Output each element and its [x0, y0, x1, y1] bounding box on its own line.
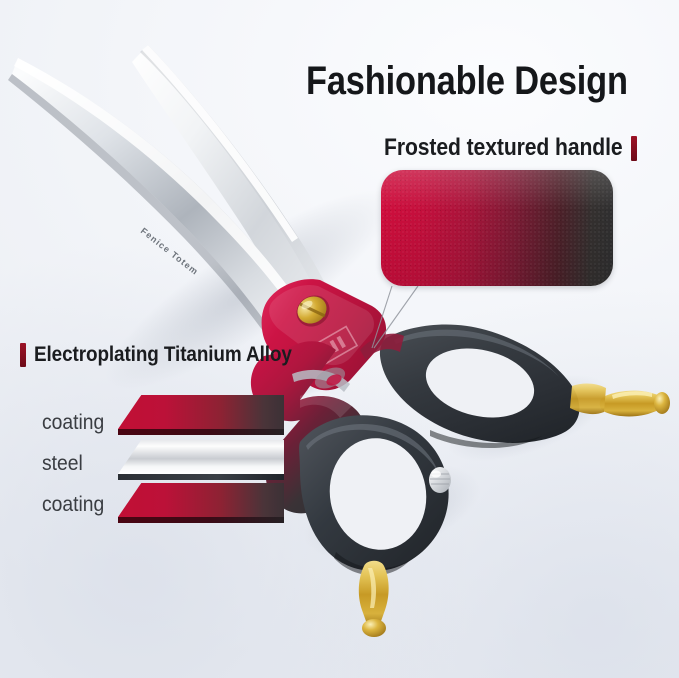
accent-bar-icon	[631, 136, 637, 161]
frosted-handle-swatch	[381, 170, 613, 286]
product-feature-graphic: Fenice Totem	[0, 0, 679, 678]
slab-face	[118, 483, 284, 517]
accent-bar-icon	[20, 343, 26, 367]
callout-frosted-handle-label: Frosted textured handle	[384, 134, 623, 162]
slab-edge	[118, 517, 284, 523]
slab-edge	[118, 474, 284, 480]
callout-titanium-alloy-label: Electroplating Titanium Alloy	[34, 343, 292, 367]
layer-label-coating-top: coating	[42, 411, 104, 435]
slab-face	[118, 395, 284, 429]
layer-slab-coating-top	[118, 395, 284, 435]
slab-edge	[118, 429, 284, 435]
gold-tang-lower	[359, 561, 389, 637]
slab-face	[118, 440, 284, 474]
callout-frosted-handle: Frosted textured handle	[384, 134, 637, 162]
layer-slab-coating-bottom	[118, 483, 284, 523]
callout-titanium-alloy: Electroplating Titanium Alloy	[20, 343, 320, 367]
gold-tang-upper	[570, 384, 670, 417]
tension-knob	[429, 467, 451, 493]
layer-label-steel: steel	[42, 452, 83, 476]
swatch-gloss-overlay	[381, 170, 613, 286]
finger-ring-lower	[299, 415, 451, 637]
layer-label-coating-bottom: coating	[42, 493, 104, 517]
layer-slab-steel	[118, 440, 284, 480]
page-title: Fashionable Design	[306, 60, 628, 102]
